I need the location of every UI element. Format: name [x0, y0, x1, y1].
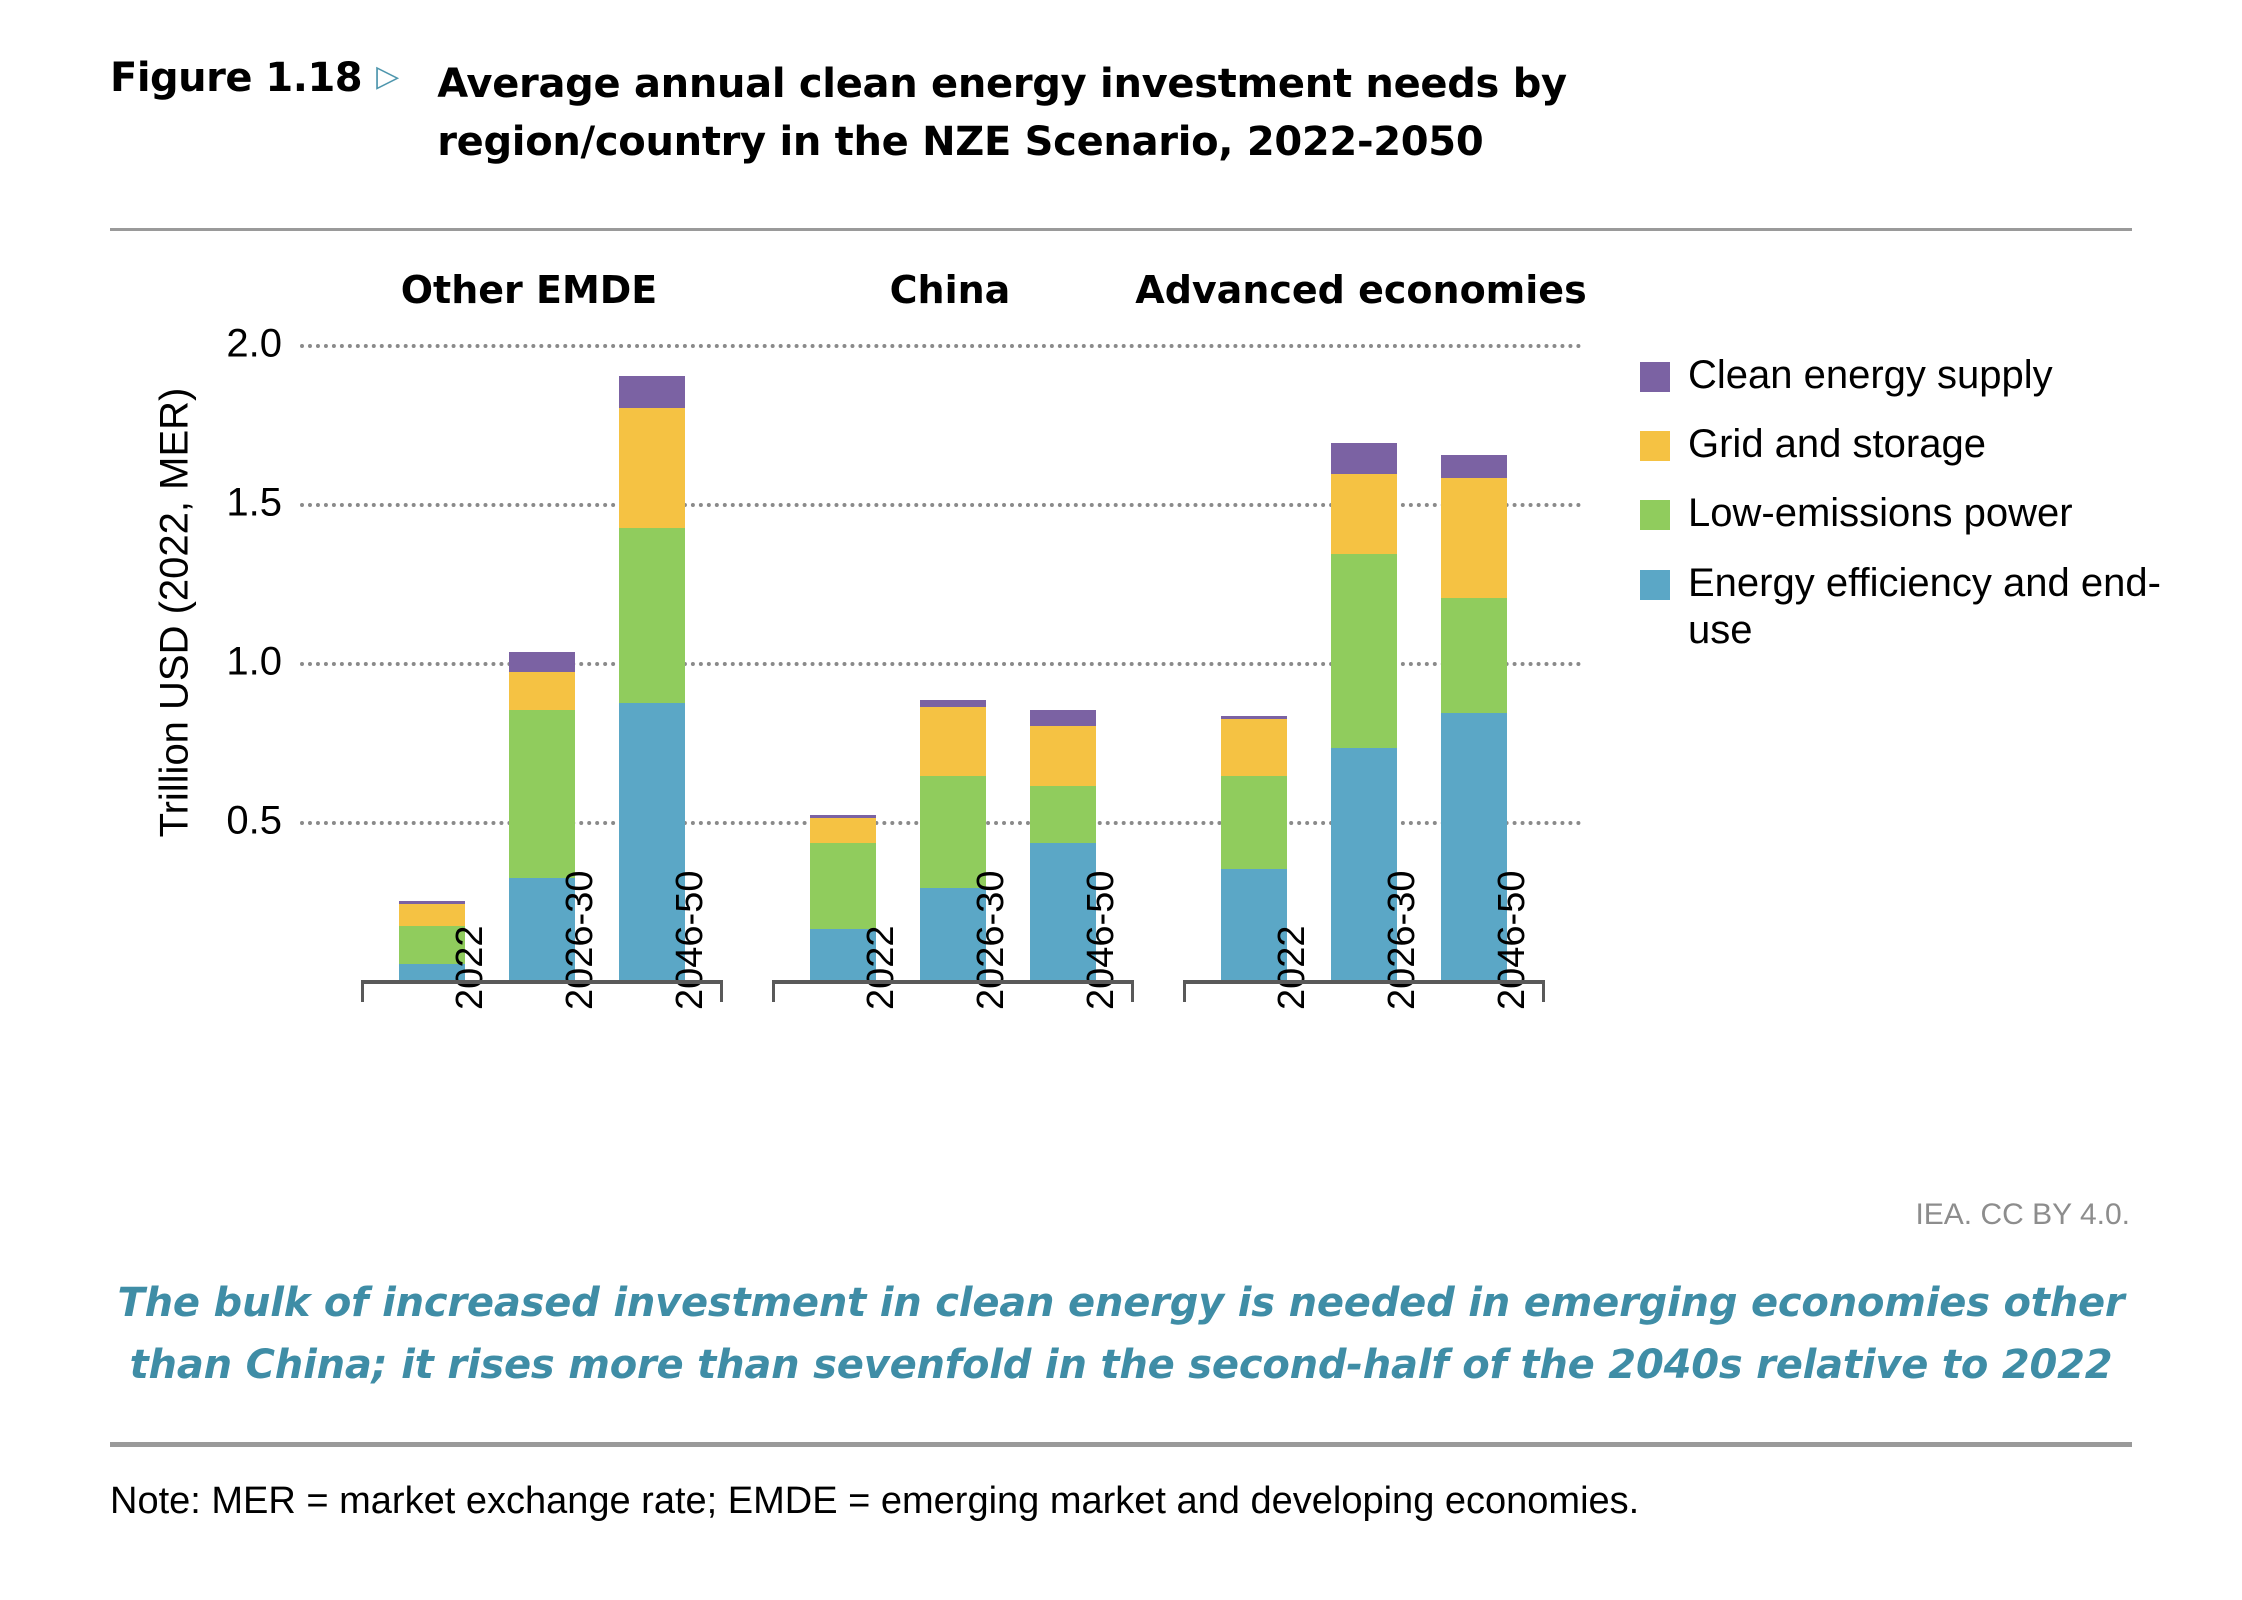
- x-axis-line: [361, 980, 723, 984]
- triangle-marker-icon: ▷: [376, 55, 399, 99]
- bar-2046-50[interactable]: [619, 376, 685, 980]
- bar-segment-clean-energy-supply: [619, 376, 685, 408]
- legend-swatch-energy-efficiency: [1640, 570, 1670, 600]
- bar-2046-50[interactable]: [1030, 710, 1096, 980]
- bar-segment-clean-energy-supply: [1441, 455, 1507, 477]
- bar-segment-energy-efficiency-and-end-use: [810, 929, 876, 980]
- y-axis-title: Trillion USD (2022, MER): [153, 293, 198, 933]
- legend-label: Clean energy supply: [1688, 352, 2053, 399]
- bar-segment-grid-and-storage: [810, 818, 876, 843]
- x-axis-line: [772, 980, 1134, 984]
- bar-segment-grid-and-storage: [1441, 478, 1507, 599]
- bar-segment-grid-and-storage: [1030, 726, 1096, 786]
- group-label: China: [890, 268, 1011, 312]
- bar-2026-30[interactable]: [1331, 443, 1397, 980]
- bar-segment-clean-energy-supply: [920, 700, 986, 706]
- legend-label: Low-emissions power: [1688, 490, 2073, 537]
- bar-segment-low-emissions-power: [619, 528, 685, 703]
- bar-segment-clean-energy-supply: [509, 652, 575, 671]
- x-axis-tick-label: 2022: [1271, 925, 1314, 1010]
- legend-item[interactable]: Clean energy supply: [1640, 352, 2200, 399]
- gridline: [300, 503, 1582, 507]
- x-axis-tick-label: 2022: [860, 925, 903, 1010]
- x-axis-line: [1183, 980, 1545, 984]
- x-axis-tick-label: 2046-50: [1080, 871, 1123, 1010]
- bar-segment-grid-and-storage: [1331, 474, 1397, 554]
- divider-top: [110, 228, 2132, 231]
- bar-2046-50[interactable]: [1441, 455, 1507, 980]
- bar-segment-clean-energy-supply: [1331, 443, 1397, 475]
- x-axis-tick-label: 2026-30: [559, 871, 602, 1010]
- group-label: Advanced economies: [1135, 268, 1586, 312]
- legend-swatch-clean-energy-supply: [1640, 362, 1670, 392]
- x-axis-tick: [720, 980, 723, 1002]
- y-axis-tick-label: 2.0: [132, 322, 282, 367]
- x-axis-tick: [772, 980, 775, 1002]
- figure-note: Note: MER = market exchange rate; EMDE =…: [110, 1480, 1639, 1523]
- bar-segment-low-emissions-power: [509, 710, 575, 879]
- bar-segment-low-emissions-power: [1331, 554, 1397, 748]
- x-axis-tick: [1131, 980, 1134, 1002]
- legend-item[interactable]: Energy efficiency and end-use: [1640, 560, 2200, 654]
- bar-segment-energy-efficiency-and-end-use: [619, 703, 685, 980]
- bar-segment-energy-efficiency-and-end-use: [1030, 843, 1096, 980]
- legend-label: Grid and storage: [1688, 421, 1986, 468]
- x-axis-tick-label: 2026-30: [1381, 871, 1424, 1010]
- bar-segment-low-emissions-power: [1030, 786, 1096, 843]
- bar-segment-energy-efficiency-and-end-use: [1331, 748, 1397, 980]
- bar-segment-energy-efficiency-and-end-use: [920, 888, 986, 980]
- bar-segment-clean-energy-supply: [1221, 716, 1287, 719]
- bar-segment-energy-efficiency-and-end-use: [1441, 713, 1507, 980]
- bar-segment-grid-and-storage: [1221, 719, 1287, 776]
- bar-segment-low-emissions-power: [399, 926, 465, 964]
- figure-title-row: Figure 1.18 ▷ Average annual clean energ…: [110, 55, 2132, 171]
- bar-segment-energy-efficiency-and-end-use: [1221, 869, 1287, 980]
- legend-swatch-grid-and-storage: [1640, 431, 1670, 461]
- bar-segment-low-emissions-power: [1221, 776, 1287, 868]
- bar-segment-clean-energy-supply: [810, 815, 876, 818]
- legend-swatch-low-emissions-power: [1640, 500, 1670, 530]
- bar-segment-low-emissions-power: [810, 843, 876, 929]
- bar-segment-energy-efficiency-and-end-use: [399, 964, 465, 980]
- group-label: Other EMDE: [401, 268, 658, 312]
- bar-segment-grid-and-storage: [399, 904, 465, 926]
- x-axis-tick-label: 2022: [449, 925, 492, 1010]
- license-credit: IEA. CC BY 4.0.: [1915, 1198, 2130, 1232]
- x-axis-tick-label: 2046-50: [1491, 871, 1534, 1010]
- x-axis-tick-label: 2046-50: [669, 871, 712, 1010]
- figure-title: Average annual clean energy investment n…: [437, 55, 1757, 171]
- bar-2022[interactable]: [399, 901, 465, 981]
- bar-segment-grid-and-storage: [619, 408, 685, 529]
- gridline: [300, 344, 1582, 348]
- bar-segment-energy-efficiency-and-end-use: [509, 878, 575, 980]
- figure-number: Figure 1.18: [110, 55, 362, 102]
- y-axis-tick-label: 0.5: [132, 799, 282, 844]
- gridline: [300, 821, 1582, 825]
- legend-item[interactable]: Low-emissions power: [1640, 490, 2200, 537]
- bar-2022[interactable]: [810, 815, 876, 980]
- bar-segment-low-emissions-power: [1441, 598, 1507, 712]
- bar-2026-30[interactable]: [509, 652, 575, 980]
- bar-segment-clean-energy-supply: [399, 901, 465, 904]
- y-axis-tick-label: 1.5: [132, 481, 282, 526]
- x-axis-tick: [1183, 980, 1186, 1002]
- x-axis-tick: [1542, 980, 1545, 1002]
- legend-item[interactable]: Grid and storage: [1640, 421, 2200, 468]
- chart-legend: Clean energy supply Grid and storage Low…: [1640, 352, 2200, 676]
- bar-segment-low-emissions-power: [920, 776, 986, 887]
- bar-segment-clean-energy-supply: [1030, 710, 1096, 726]
- bar-2026-30[interactable]: [920, 700, 986, 980]
- figure-caption: The bulk of increased investment in clea…: [115, 1272, 2127, 1396]
- legend-label: Energy efficiency and end-use: [1688, 560, 2168, 654]
- y-axis-tick-label: 1.0: [132, 640, 282, 685]
- divider-bottom: [110, 1442, 2132, 1447]
- x-axis-tick: [361, 980, 364, 1002]
- gridline: [300, 662, 1582, 666]
- bar-segment-grid-and-storage: [509, 672, 575, 710]
- x-axis-tick-label: 2026-30: [970, 871, 1013, 1010]
- bar-segment-grid-and-storage: [920, 707, 986, 777]
- bar-2022[interactable]: [1221, 716, 1287, 980]
